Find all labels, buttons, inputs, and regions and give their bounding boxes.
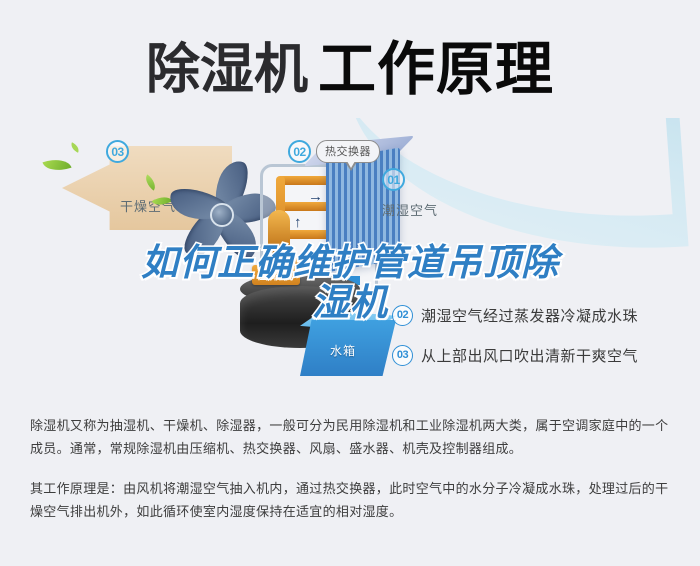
page-root: 除湿机工作原理 干燥空气 → ↑ <box>0 0 700 566</box>
flow-arrow-icon: → <box>308 188 323 205</box>
callout-tail-icon <box>345 162 357 171</box>
body-paragraph-1: 除湿机又称为抽湿机、干燥机、除湿器，一般可分为民用除湿机和工业除湿机两大类，属于… <box>30 414 675 460</box>
body-paragraph-2: 其工作原理是：由风机将潮湿空气抽入机内，通过热交换器，此时空气中的水分子冷凝成水… <box>30 477 675 523</box>
badge-dry-air: 03 <box>106 140 129 163</box>
page-title-part2: 工作原理 <box>318 37 554 102</box>
legend-label: 潮湿空气经过蒸发器冷凝成水珠 <box>421 305 638 326</box>
process-legend: 02 潮湿空气经过蒸发器冷凝成水珠 03 从上部出风口吹出清新干爽空气 <box>392 295 638 375</box>
water-tank-label: 水箱 <box>330 342 356 359</box>
leaf-icon <box>42 154 71 175</box>
badge-heat-exchanger: 02 <box>288 140 311 163</box>
wet-air-label: 潮湿空气 <box>382 200 438 219</box>
page-title-part1: 除湿机 <box>146 40 308 100</box>
compressor-label: 压缩机 <box>252 265 300 285</box>
legend-number: 02 <box>392 305 413 326</box>
accumulator-tank <box>268 210 290 256</box>
page-title: 除湿机工作原理 <box>0 22 700 106</box>
leaf-icon <box>69 142 81 153</box>
flow-arrow-icon: ↑ <box>294 214 302 231</box>
badge-wet-air: 01 <box>382 168 405 191</box>
legend-number: 03 <box>392 345 413 366</box>
legend-item: 03 从上部出风口吹出清新干爽空气 <box>392 335 638 375</box>
legend-label: 从上部出风口吹出清新干爽空气 <box>421 345 638 366</box>
fan-hub <box>210 203 234 227</box>
article-body: 除湿机又称为抽湿机、干燥机、除湿器，一般可分为民用除湿机和工业除湿机两大类，属于… <box>30 414 675 523</box>
legend-item: 02 潮湿空气经过蒸发器冷凝成水珠 <box>392 295 638 335</box>
heat-exchanger-callout: 热交换器 <box>316 140 380 163</box>
